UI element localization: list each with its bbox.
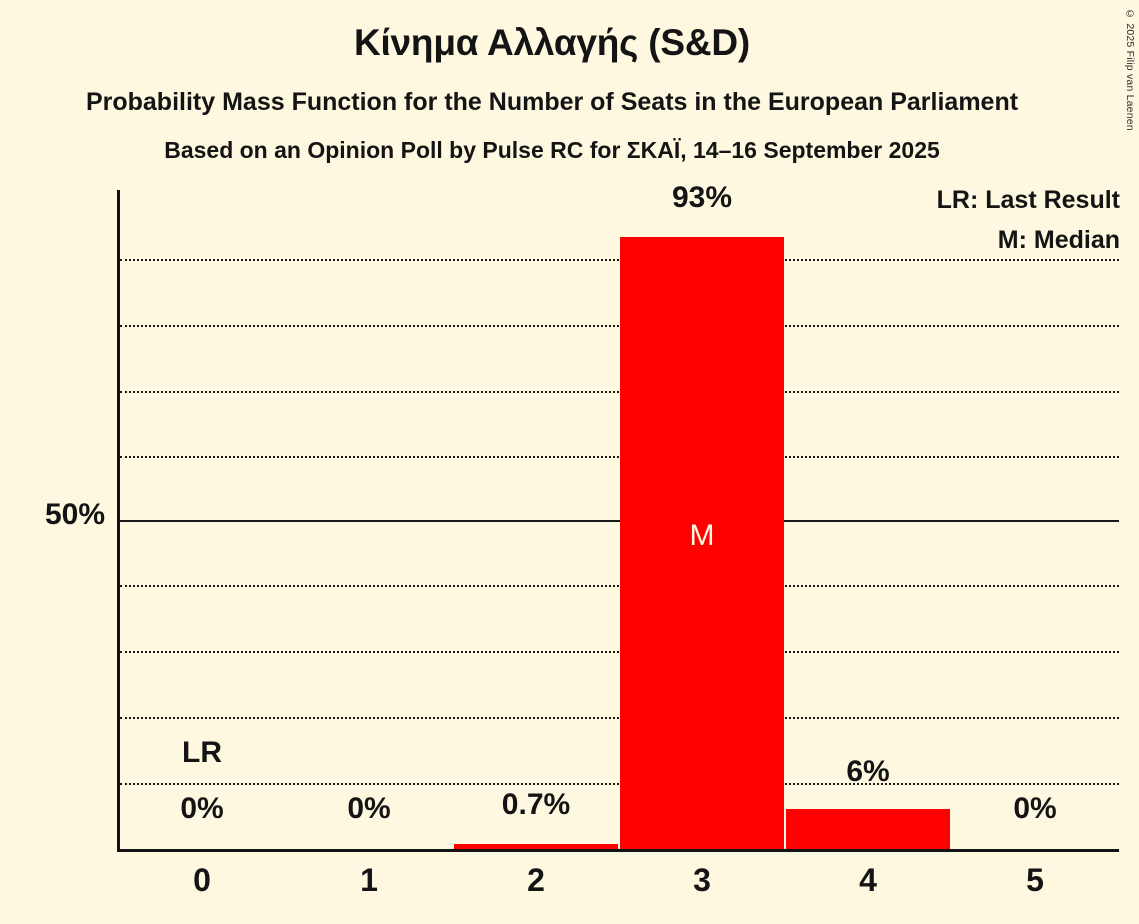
value-label-seats-4: 6% bbox=[786, 755, 950, 789]
x-axis-tick-labels: 0 1 2 3 4 5 bbox=[120, 862, 1119, 912]
x-tick-label-0: 0 bbox=[120, 862, 284, 899]
x-tick-label-2: 2 bbox=[454, 862, 618, 899]
bar-seats-4 bbox=[786, 809, 950, 849]
x-tick-label-3: 3 bbox=[620, 862, 784, 899]
y-tick-label-50: 50% bbox=[45, 498, 105, 532]
y-axis-tick-labels: 50% bbox=[0, 190, 105, 849]
last-result-marker: LR bbox=[120, 736, 284, 770]
value-label-seats-2: 0.7% bbox=[454, 788, 618, 822]
x-tick-label-5: 5 bbox=[953, 862, 1117, 899]
chart-page: Κίνημα Αλλαγής (S&D) Probability Mass Fu… bbox=[0, 0, 1139, 924]
chart-source-note: Based on an Opinion Poll by Pulse RC for… bbox=[0, 137, 1104, 164]
median-marker: M bbox=[620, 519, 784, 553]
bar-seats-2 bbox=[454, 844, 618, 849]
value-label-seats-0: 0% bbox=[120, 792, 284, 826]
chart-title: Κίνημα Αλλαγής (S&D) bbox=[0, 22, 1104, 64]
chart-subtitle: Probability Mass Function for the Number… bbox=[0, 88, 1104, 117]
value-label-seats-1: 0% bbox=[287, 792, 451, 826]
x-tick-label-4: 4 bbox=[786, 862, 950, 899]
plot-area: 0% 0% 0.7% 93% 6% 0% LR M bbox=[120, 190, 1119, 849]
value-label-seats-3: 93% bbox=[620, 181, 784, 215]
x-tick-label-1: 1 bbox=[287, 862, 451, 899]
x-axis-line bbox=[117, 849, 1119, 852]
value-label-seats-5: 0% bbox=[953, 792, 1117, 826]
copyright-notice: © 2025 Filip van Laenen bbox=[1124, 8, 1136, 131]
